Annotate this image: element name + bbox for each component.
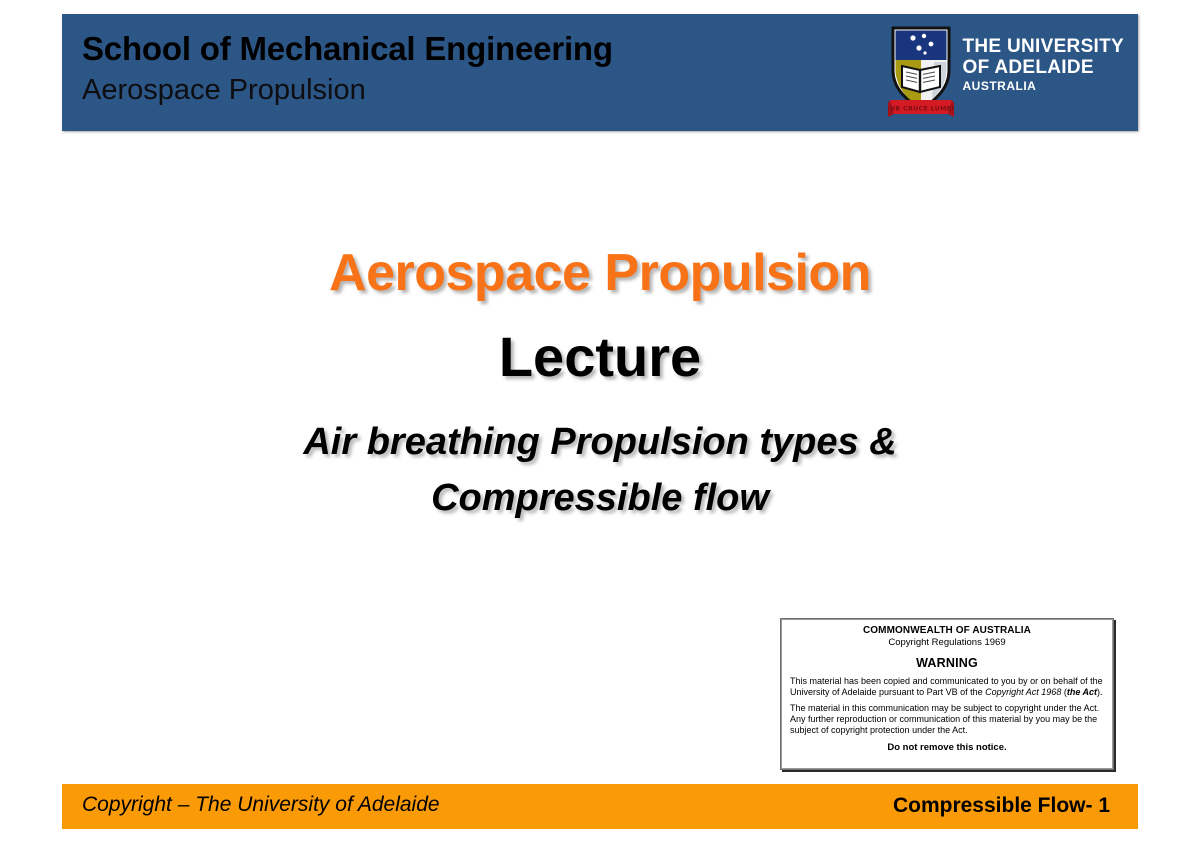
notice-warning-title: WARNING [790, 655, 1104, 671]
slide-footer-bar: Copyright – The University of Adelaide C… [62, 784, 1138, 829]
footer-copyright-text: Copyright – The University of Adelaide [82, 793, 440, 817]
header-text-block: School of Mechanical Engineering Aerospa… [82, 28, 882, 110]
school-name: School of Mechanical Engineering [82, 28, 882, 70]
wordmark-line-2: OF ADELAIDE [963, 57, 1125, 78]
notice-heading: COMMONWEALTH OF AUSTRALIA [790, 625, 1104, 637]
notice-subheading: Copyright Regulations 1969 [790, 637, 1104, 649]
notice-p1-close-paren: ). [1097, 687, 1103, 697]
university-logo: SUB CRUCE LUMEN THE UNIVERSITY OF ADELAI… [888, 22, 1125, 124]
wordmark-line-3: AUSTRALIA [963, 78, 1125, 94]
lecture-subtitle-line-2: Compressible flow [62, 470, 1138, 526]
presentation-title: Aerospace Propulsion [62, 240, 1138, 306]
lecture-subtitle-line-1: Air breathing Propulsion types & [62, 414, 1138, 470]
notice-p1-act-title: Copyright Act 1968 [985, 687, 1061, 697]
wordmark-line-1: THE UNIVERSITY [963, 36, 1125, 57]
notice-paragraph-2: The material in this communication may b… [790, 703, 1104, 736]
crest-motto: SUB CRUCE LUMEN [888, 106, 954, 113]
slide: School of Mechanical Engineering Aerospa… [0, 0, 1200, 848]
lecture-subtitle: Air breathing Propulsion types & Compres… [62, 414, 1138, 526]
slide-header-bar: School of Mechanical Engineering Aerospa… [62, 14, 1138, 131]
university-wordmark: THE UNIVERSITY OF ADELAIDE AUSTRALIA [963, 22, 1125, 94]
slide-title-area: Aerospace Propulsion Lecture Air breathi… [62, 240, 1138, 526]
university-crest-icon: SUB CRUCE LUMEN [888, 22, 954, 122]
notice-footer-note: Do not remove this notice. [790, 742, 1104, 754]
footer-page-label: Compressible Flow- 1 [893, 794, 1110, 818]
notice-paragraph-1: This material has been copied and commun… [790, 676, 1104, 698]
lecture-label: Lecture [62, 318, 1138, 396]
notice-p1-the-act: the Act [1067, 687, 1097, 697]
course-name: Aerospace Propulsion [82, 70, 882, 110]
copyright-warning-notice: COMMONWEALTH OF AUSTRALIA Copyright Regu… [780, 618, 1114, 770]
